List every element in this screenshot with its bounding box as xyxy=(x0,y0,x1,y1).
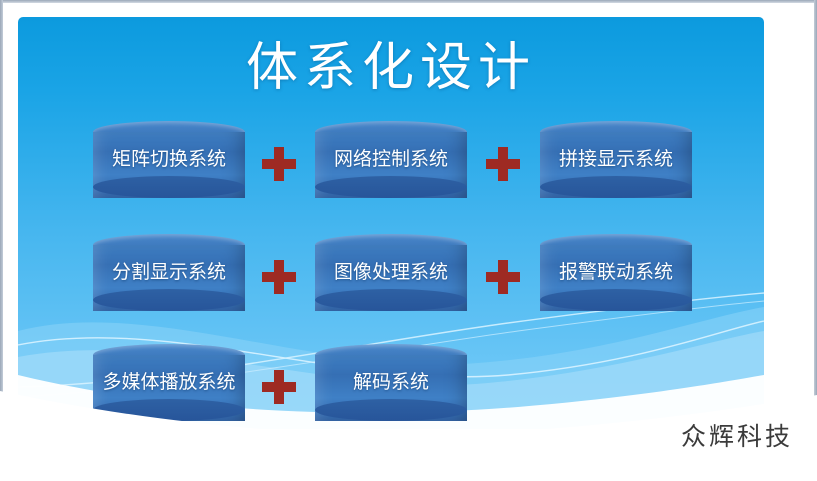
plus-operator-icon xyxy=(486,147,520,181)
plus-operator-icon xyxy=(262,260,296,294)
cylinder-bottom-icon xyxy=(93,399,245,421)
system-cylinder[interactable]: 解码系统 xyxy=(315,344,467,429)
slide-frame-left xyxy=(0,0,3,481)
cylinder-bottom-icon xyxy=(540,289,692,311)
plus-bar-vertical xyxy=(274,370,284,404)
cylinder-bottom-icon xyxy=(315,289,467,311)
plus-bar-vertical xyxy=(274,260,284,294)
system-cylinder[interactable]: 网络控制系统 xyxy=(315,121,467,209)
plus-operator-icon xyxy=(262,147,296,181)
plus-bar-vertical xyxy=(498,260,508,294)
system-label: 矩阵切换系统 xyxy=(79,147,259,171)
system-cylinder[interactable]: 分割显示系统 xyxy=(93,234,245,322)
system-label: 图像处理系统 xyxy=(301,260,481,284)
systems-grid: 矩阵切换系统 网络控制系统 xyxy=(18,17,764,429)
system-label: 拼接显示系统 xyxy=(526,147,706,171)
slide-frame-top xyxy=(0,0,817,3)
brand-logo-text: 众辉科技 xyxy=(681,417,793,453)
system-label: 网络控制系统 xyxy=(301,147,481,171)
system-cylinder[interactable]: 矩阵切换系统 xyxy=(93,121,245,209)
systems-row: 矩阵切换系统 网络控制系统 xyxy=(18,121,764,211)
systems-row: 多媒体播放系统 解码系统 xyxy=(18,344,764,429)
cylinder-bottom-icon xyxy=(93,176,245,198)
cylinder-bottom-icon xyxy=(93,289,245,311)
system-cylinder[interactable]: 图像处理系统 xyxy=(315,234,467,322)
cylinder-bottom-icon xyxy=(540,176,692,198)
plus-bar-vertical xyxy=(274,147,284,181)
systems-row: 分割显示系统 图像处理系统 xyxy=(18,234,764,324)
system-cylinder[interactable]: 多媒体播放系统 xyxy=(93,344,245,429)
system-label: 多媒体播放系统 xyxy=(79,370,259,394)
slide-canvas: 体系化设计 矩阵切换系统 网络控制系统 xyxy=(0,0,817,481)
system-cylinder[interactable]: 拼接显示系统 xyxy=(540,121,692,209)
system-label: 分割显示系统 xyxy=(79,260,259,284)
blue-panel: 体系化设计 矩阵切换系统 网络控制系统 xyxy=(18,17,764,429)
plus-bar-vertical xyxy=(498,147,508,181)
plus-operator-icon xyxy=(262,370,296,404)
cylinder-bottom-icon xyxy=(315,399,467,421)
system-label: 解码系统 xyxy=(301,370,481,394)
system-label: 报警联动系统 xyxy=(526,260,706,284)
system-cylinder[interactable]: 报警联动系统 xyxy=(540,234,692,322)
cylinder-bottom-icon xyxy=(315,176,467,198)
plus-operator-icon xyxy=(486,260,520,294)
